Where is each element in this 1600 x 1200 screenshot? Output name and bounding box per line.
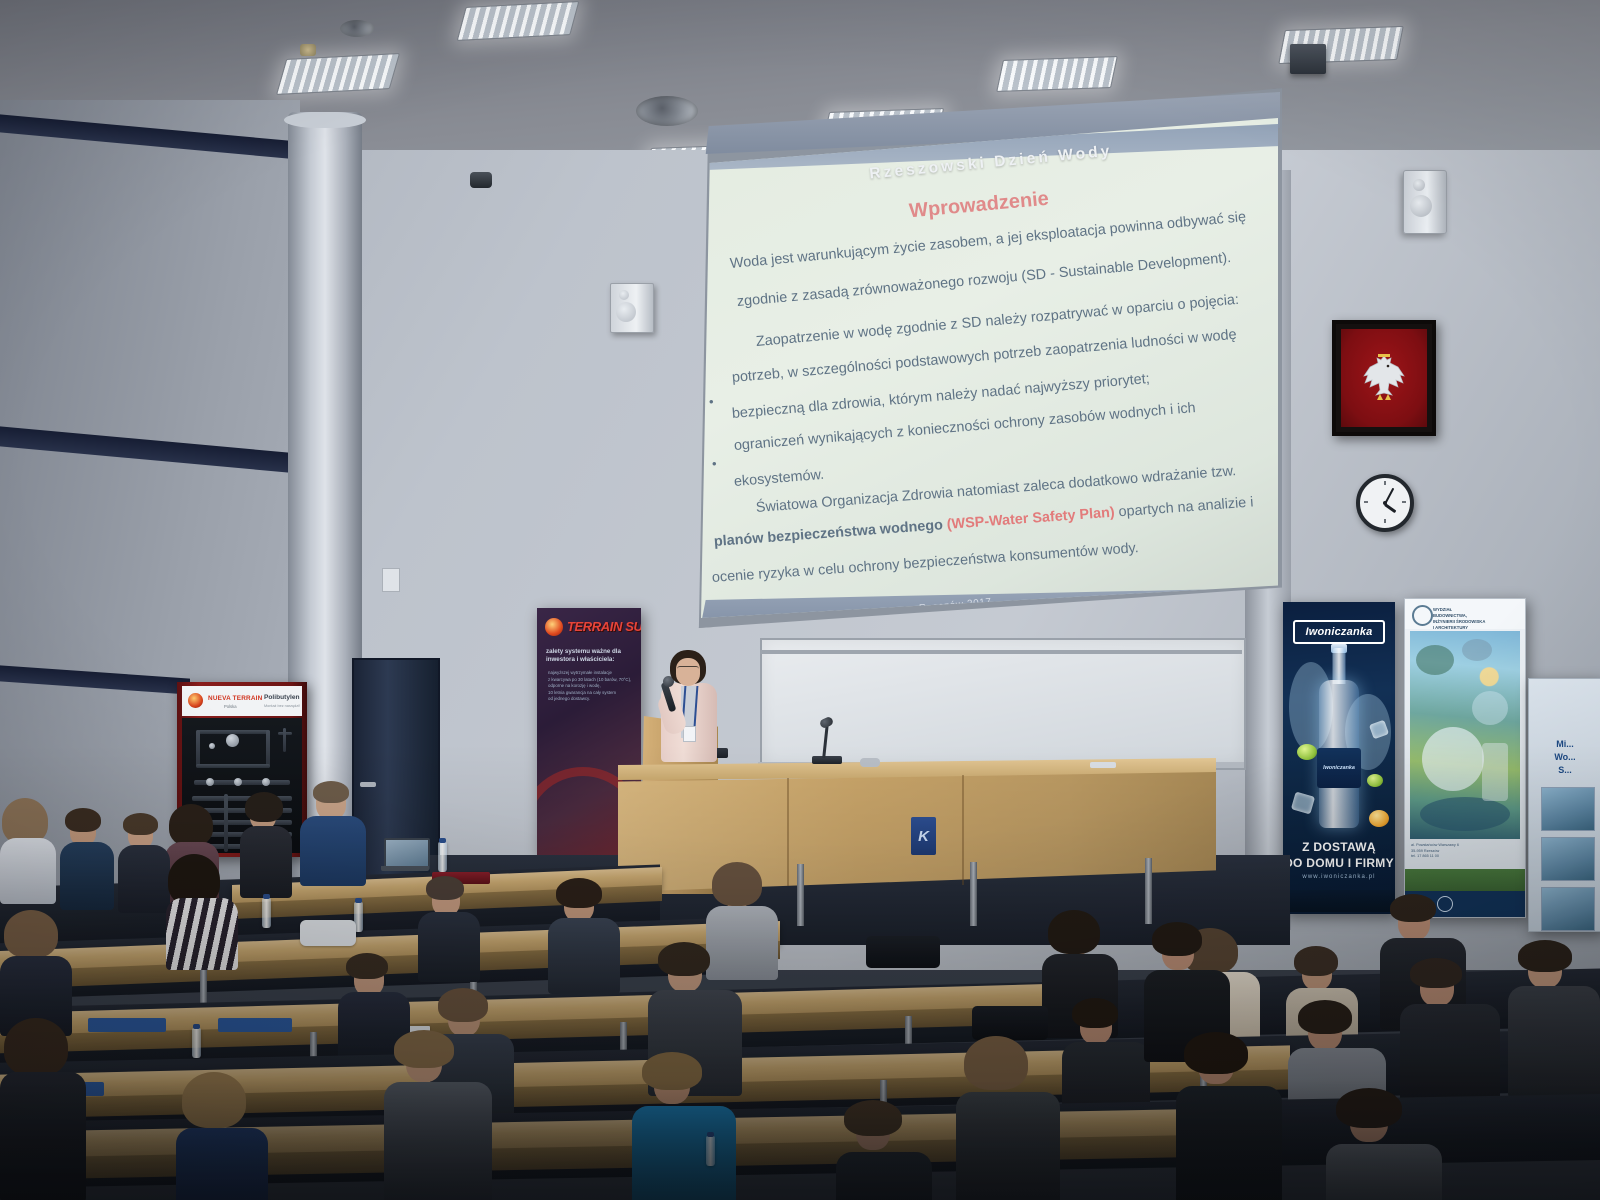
ceiling-light-panel [457, 1, 580, 41]
edge-banner-line: Wo... [1529, 752, 1600, 762]
bottle-neck [1333, 648, 1346, 684]
ceiling-vent-diffuser [636, 96, 698, 126]
bottle-label: Iwoniczanka [1317, 748, 1361, 788]
terrain-subtitle-line: inwestora i właściciela: [546, 656, 638, 664]
ceiling-vent-diffuser [340, 20, 374, 37]
security-camera-icon [470, 172, 492, 188]
water-bottle [192, 1028, 201, 1058]
desk-leg [1145, 858, 1152, 924]
cabinet-product-sub: Montaż bez narzędzi! [264, 704, 300, 708]
white-cloth [300, 920, 356, 946]
water-bottle-graphic: Iwoniczanka [1312, 648, 1366, 828]
edge-banner-line: Mi... [1529, 739, 1600, 749]
banner-edge-partial: Mi... Wo... S... [1528, 678, 1600, 932]
terrain-body: najwyższej wytrzymałe instalacje z kwarc… [548, 670, 638, 703]
water-bottle [706, 1136, 715, 1166]
polish-coat-of-arms-emblem [1332, 320, 1436, 436]
edge-banner-photo [1541, 837, 1595, 881]
university-seal-icon [1412, 605, 1433, 626]
water-bottle [262, 898, 271, 928]
seat[interactable] [88, 1018, 166, 1032]
bag [866, 936, 940, 968]
presenter-face [676, 658, 700, 686]
edge-banner-line: S... [1529, 765, 1600, 775]
terrain-body-line: 10 letnia gwarancja na cały system [548, 690, 638, 697]
desk-logo-plate: K [911, 817, 936, 855]
banner-environment-faculty: WYDZIAŁ BUDOWNICTWA, INŻYNIERII ŚRODOWIS… [1404, 598, 1526, 918]
lime-slice-icon [1297, 744, 1317, 760]
banner-iwoniczanka: Iwoniczanka Iwoniczanka Z DOSTAWĄ DO DOM… [1283, 602, 1395, 914]
flame-logo-icon [188, 693, 203, 708]
desk-seam [962, 775, 964, 885]
presenter [655, 650, 733, 762]
bottle-cap [707, 1132, 714, 1137]
partner-logo-icon [1437, 896, 1453, 912]
ceiling-light-panel [276, 53, 400, 95]
iwoniczanka-tagline-1: Z DOSTAWĄ [1283, 840, 1395, 854]
iwoniczanka-tagline-2: DO DOMU I FIRMY [1283, 856, 1395, 870]
wsp-highlight-text: (WSP-Water Safety Plan) [946, 505, 1115, 533]
ceiling-light-panel [996, 56, 1118, 92]
wall-speaker-icon [610, 283, 654, 333]
terrain-brand: TERRAIN SUP [567, 619, 641, 634]
wsp-suffix-text: opartych na analizie i [1114, 494, 1254, 520]
wsp-prefix-text: planów bezpieczeństwa wodnego [713, 517, 947, 550]
slide-bullet-marker: • [712, 456, 717, 471]
env-banner-collage [1410, 631, 1520, 839]
edge-banner-photo [1541, 887, 1595, 931]
bottle-cap [439, 838, 446, 843]
eagle-icon [1358, 350, 1410, 406]
lime-slice-icon [1367, 774, 1383, 787]
wall-speaker-icon [1403, 170, 1447, 234]
laptop-base [381, 866, 429, 871]
whiteboard-rail [760, 650, 1242, 654]
handbag [972, 1006, 1048, 1040]
whiteboard [760, 638, 1246, 770]
wall-clock [1356, 474, 1414, 532]
desk-leg [797, 864, 804, 926]
projector-mount [1290, 44, 1326, 74]
presenter-badge [683, 726, 696, 742]
slide-bullet-marker: • [709, 394, 714, 409]
env-banner-header: WYDZIAŁ BUDOWNICTWA, INŻYNIERII ŚRODOWIS… [1405, 599, 1525, 629]
bottle-cap [263, 894, 270, 899]
env-header-line: I ARCHITEKTURY [1433, 625, 1519, 631]
terrain-subtitle: zalety systemu ważne dla inwestora i wła… [546, 648, 638, 665]
bottle-cap [193, 1024, 200, 1029]
presentation-slide: Rzeszowski Dzień Wody Wprowadzenie Woda … [694, 118, 1278, 618]
terrain-body-line: z kwarcywa po 30 latach (10 barów, 70°C)… [548, 677, 638, 684]
water-bottle [438, 842, 447, 872]
lecture-hall-photo: Rzeszowski Dzień Wody Wprowadzenie Woda … [0, 0, 1600, 1200]
sprinkler-head-icon [300, 44, 316, 56]
audience-laptop [384, 838, 426, 870]
terrain-body-line: odporne na korozję i wodę, [548, 683, 638, 690]
iwoniczanka-brand: Iwoniczanka [1293, 620, 1385, 644]
seat[interactable] [218, 1018, 292, 1032]
terrain-flame-icon [545, 618, 563, 636]
iwoniczanka-footer-bar [1283, 890, 1395, 912]
env-footer-line: tel. 17 865 11 00 [1411, 854, 1485, 860]
iwoniczanka-url: www.iwoniczanka.pl [1283, 874, 1395, 880]
edge-banner-photo [1541, 787, 1595, 831]
terrain-body-line: najwyższej wytrzymałe instalacje [548, 670, 638, 677]
env-header-text: WYDZIAŁ BUDOWNICTWA, INŻYNIERII ŚRODOWIS… [1433, 607, 1519, 631]
terrain-subtitle-line: zalety systemu ważne dla [546, 648, 638, 656]
door-handle[interactable] [360, 782, 376, 787]
terrain-body-line: od jednego dostawcy. [548, 696, 638, 703]
presenter-glasses [677, 666, 699, 672]
env-green-bar [1405, 869, 1525, 891]
lemon-slice-icon [1369, 810, 1389, 827]
light-switch[interactable] [382, 568, 400, 592]
bottle-cap [355, 898, 362, 903]
desk-object [1090, 762, 1116, 768]
slide-paragraph-line: ocenie ryzyka w celu ochrony bezpieczeńs… [711, 540, 1139, 586]
desk-seam [787, 778, 789, 886]
slide-bullet-line: ekosystemów. [733, 467, 824, 490]
desk-leg [970, 862, 977, 926]
desk-object [860, 758, 880, 767]
cabinet-header-panel: NUEVA TERRAIN Polska Polibutylen Montaż … [182, 686, 302, 716]
gooseneck-mic-base [812, 756, 842, 764]
cabinet-brand: NUEVA TERRAIN [208, 695, 262, 702]
slide-title: Wprowadzenie [908, 188, 1050, 224]
env-footer-text: al. Powstańców Warszawy 6 35-959 Rzeszów… [1411, 843, 1485, 860]
cabinet-brand-sub: Polska [224, 704, 237, 709]
cabinet-product: Polibutylen [264, 694, 300, 701]
